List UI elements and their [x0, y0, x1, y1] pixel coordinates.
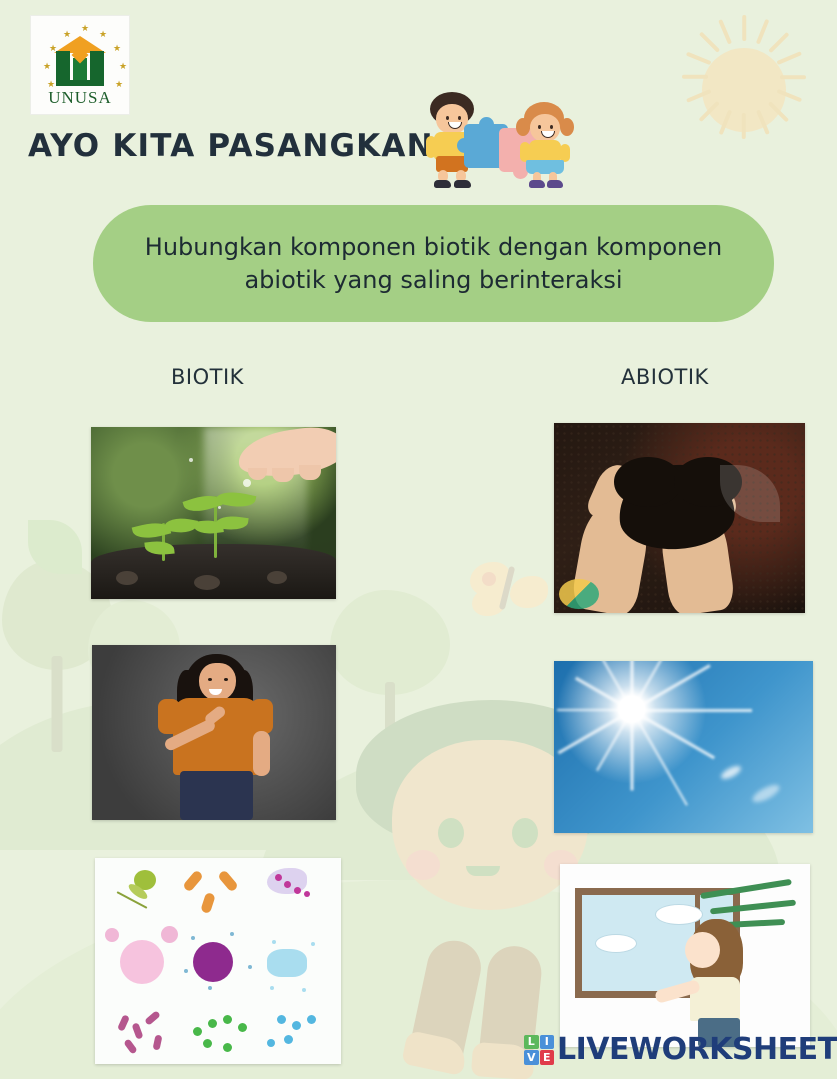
live-letter-i: I — [540, 1035, 555, 1050]
live-letter-l: L — [524, 1035, 539, 1050]
worksheet-page: ★ ★ ★ ★ ★ ★ ★ ★ ★ UNUSA AYO KITA PASANGK… — [0, 0, 837, 1079]
live-letter-v: V — [524, 1050, 539, 1065]
butterfly-decoration — [470, 560, 556, 622]
sun-core-icon — [702, 48, 786, 132]
biotik-card-woman[interactable] — [92, 645, 336, 820]
live-logo-icon: L I V E — [524, 1035, 554, 1065]
leaf-decoration — [463, 753, 524, 814]
liveworksheets-watermark: L I V E LIVEWORKSHEETS — [524, 1032, 837, 1067]
abiotik-card-sun[interactable] — [554, 661, 813, 833]
live-letter-e: E — [540, 1050, 555, 1065]
instruction-banner: Hubungkan komponen biotik dengan kompone… — [93, 205, 774, 322]
tree-decoration — [330, 590, 450, 760]
abiotik-card-soil[interactable] — [554, 423, 805, 613]
biotik-card-plants[interactable] — [91, 427, 336, 599]
unusa-logo-mark-icon — [54, 36, 106, 86]
unusa-logo: ★ ★ ★ ★ ★ ★ ★ ★ ★ UNUSA — [31, 16, 129, 114]
leaf-decoration — [28, 520, 82, 574]
biotik-card-microorganisms[interactable] — [95, 858, 341, 1064]
instruction-text: Hubungkan komponen biotik dengan kompone… — [93, 231, 774, 296]
abiotik-card-air-window[interactable] — [560, 864, 810, 1047]
logo-wordmark: UNUSA — [31, 88, 129, 108]
page-title: AYO KITA PASANGKAN — [28, 128, 434, 164]
sun-decoration — [664, 10, 824, 170]
column-heading-biotik: BIOTIK — [171, 365, 244, 389]
kids-puzzle-illustration — [420, 88, 580, 188]
column-heading-abiotik: ABIOTIK — [621, 365, 709, 389]
liveworksheets-wordmark: LIVEWORKSHEETS — [557, 1032, 837, 1067]
girl-figure-icon — [516, 102, 578, 186]
